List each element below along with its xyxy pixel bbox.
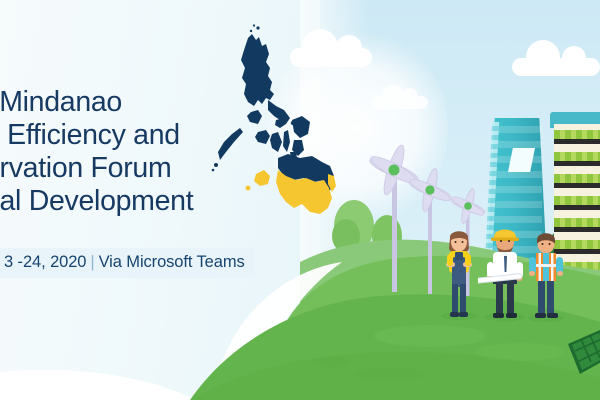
title-line-2: gy Efficiency and: [0, 119, 330, 152]
title-line-1: al Mindanao: [0, 86, 330, 119]
event-venue: Via Microsoft Teams: [99, 253, 245, 271]
engineer-man-blueprint: [478, 222, 532, 327]
date-separator: |: [86, 253, 98, 271]
event-date-band: 3 -24, 2020|Via Microsoft Teams: [0, 248, 255, 278]
partner-logo-strip: ASEP CELLs: [0, 330, 600, 378]
engineer-woman: [436, 224, 482, 325]
title-line-3: servation Forum: [0, 152, 330, 185]
title-line-4: ocal Development: [0, 185, 330, 218]
event-banner: al Mindanao gy Efficiency and servation …: [0, 0, 600, 400]
event-date: 3 -24, 2020: [4, 253, 86, 271]
event-title: al Mindanao gy Efficiency and servation …: [0, 86, 330, 218]
